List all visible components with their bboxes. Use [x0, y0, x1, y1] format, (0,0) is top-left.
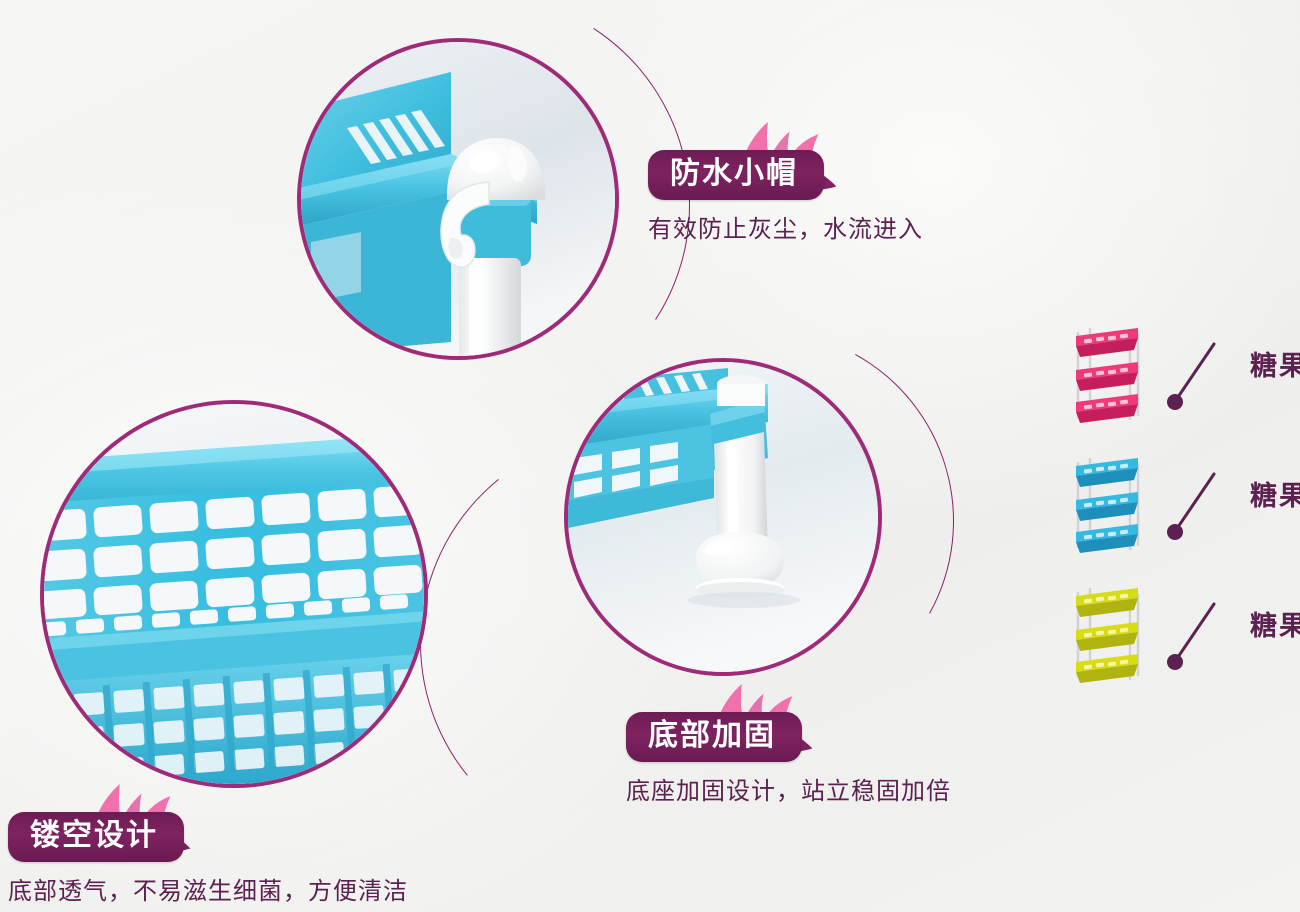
photo-waterproof-cap [301, 42, 615, 356]
shelf-rack-icon [1068, 454, 1144, 554]
shelf-rack-icon [1068, 584, 1144, 684]
photo-reinforced-base [568, 362, 878, 672]
badge-reinforced-base-wrap: 底部加固 [626, 712, 802, 762]
photo-hollow-design [44, 404, 424, 784]
badge-label-waterproof-cap: 防水小帽 [648, 150, 824, 200]
feature-waterproof-cap: 防水小帽 有效防止灰尘，水流进入 [648, 150, 923, 244]
variant-row-candy-pink[interactable]: 糖果粉 [1050, 318, 1300, 448]
color-variants-panel: 糖果粉 [1050, 318, 1300, 708]
badge-label-reinforced-base: 底部加固 [626, 712, 802, 762]
variant-label-candy-pink: 糖果粉 [1250, 344, 1300, 383]
shelf-rack-icon [1068, 324, 1144, 424]
infographic-canvas: 防水小帽 有效防止灰尘，水流进入 [0, 0, 1300, 912]
pointer-line-dot-icon [1162, 594, 1222, 674]
pointer-line-dot-icon [1162, 334, 1222, 414]
waterproof-cap-illustration [301, 42, 615, 356]
subtitle-hollow-design: 底部透气，不易滋生细菌，方便清洁 [8, 871, 408, 906]
badge-label-hollow-design: 镂空设计 [8, 812, 184, 862]
variant-label-candy-blue: 糖果蓝 [1250, 474, 1300, 513]
variant-row-candy-blue[interactable]: 糖果蓝 [1050, 448, 1300, 578]
variant-row-candy-green[interactable]: 糖果绿 [1050, 578, 1300, 708]
hollow-design-illustration [44, 404, 424, 784]
badge-hollow-design-wrap: 镂空设计 [8, 812, 184, 862]
variant-label-candy-green: 糖果绿 [1250, 604, 1300, 643]
badge-waterproof-cap-wrap: 防水小帽 [648, 150, 824, 200]
subtitle-reinforced-base: 底座加固设计，站立稳固加倍 [626, 771, 951, 806]
feature-hollow-design: 镂空设计 底部透气，不易滋生细菌，方便清洁 [8, 812, 408, 906]
subtitle-waterproof-cap: 有效防止灰尘，水流进入 [648, 209, 923, 244]
reinforced-base-illustration [568, 362, 878, 672]
pointer-line-dot-icon [1162, 464, 1222, 544]
feature-reinforced-base: 底部加固 底座加固设计，站立稳固加倍 [626, 712, 951, 806]
